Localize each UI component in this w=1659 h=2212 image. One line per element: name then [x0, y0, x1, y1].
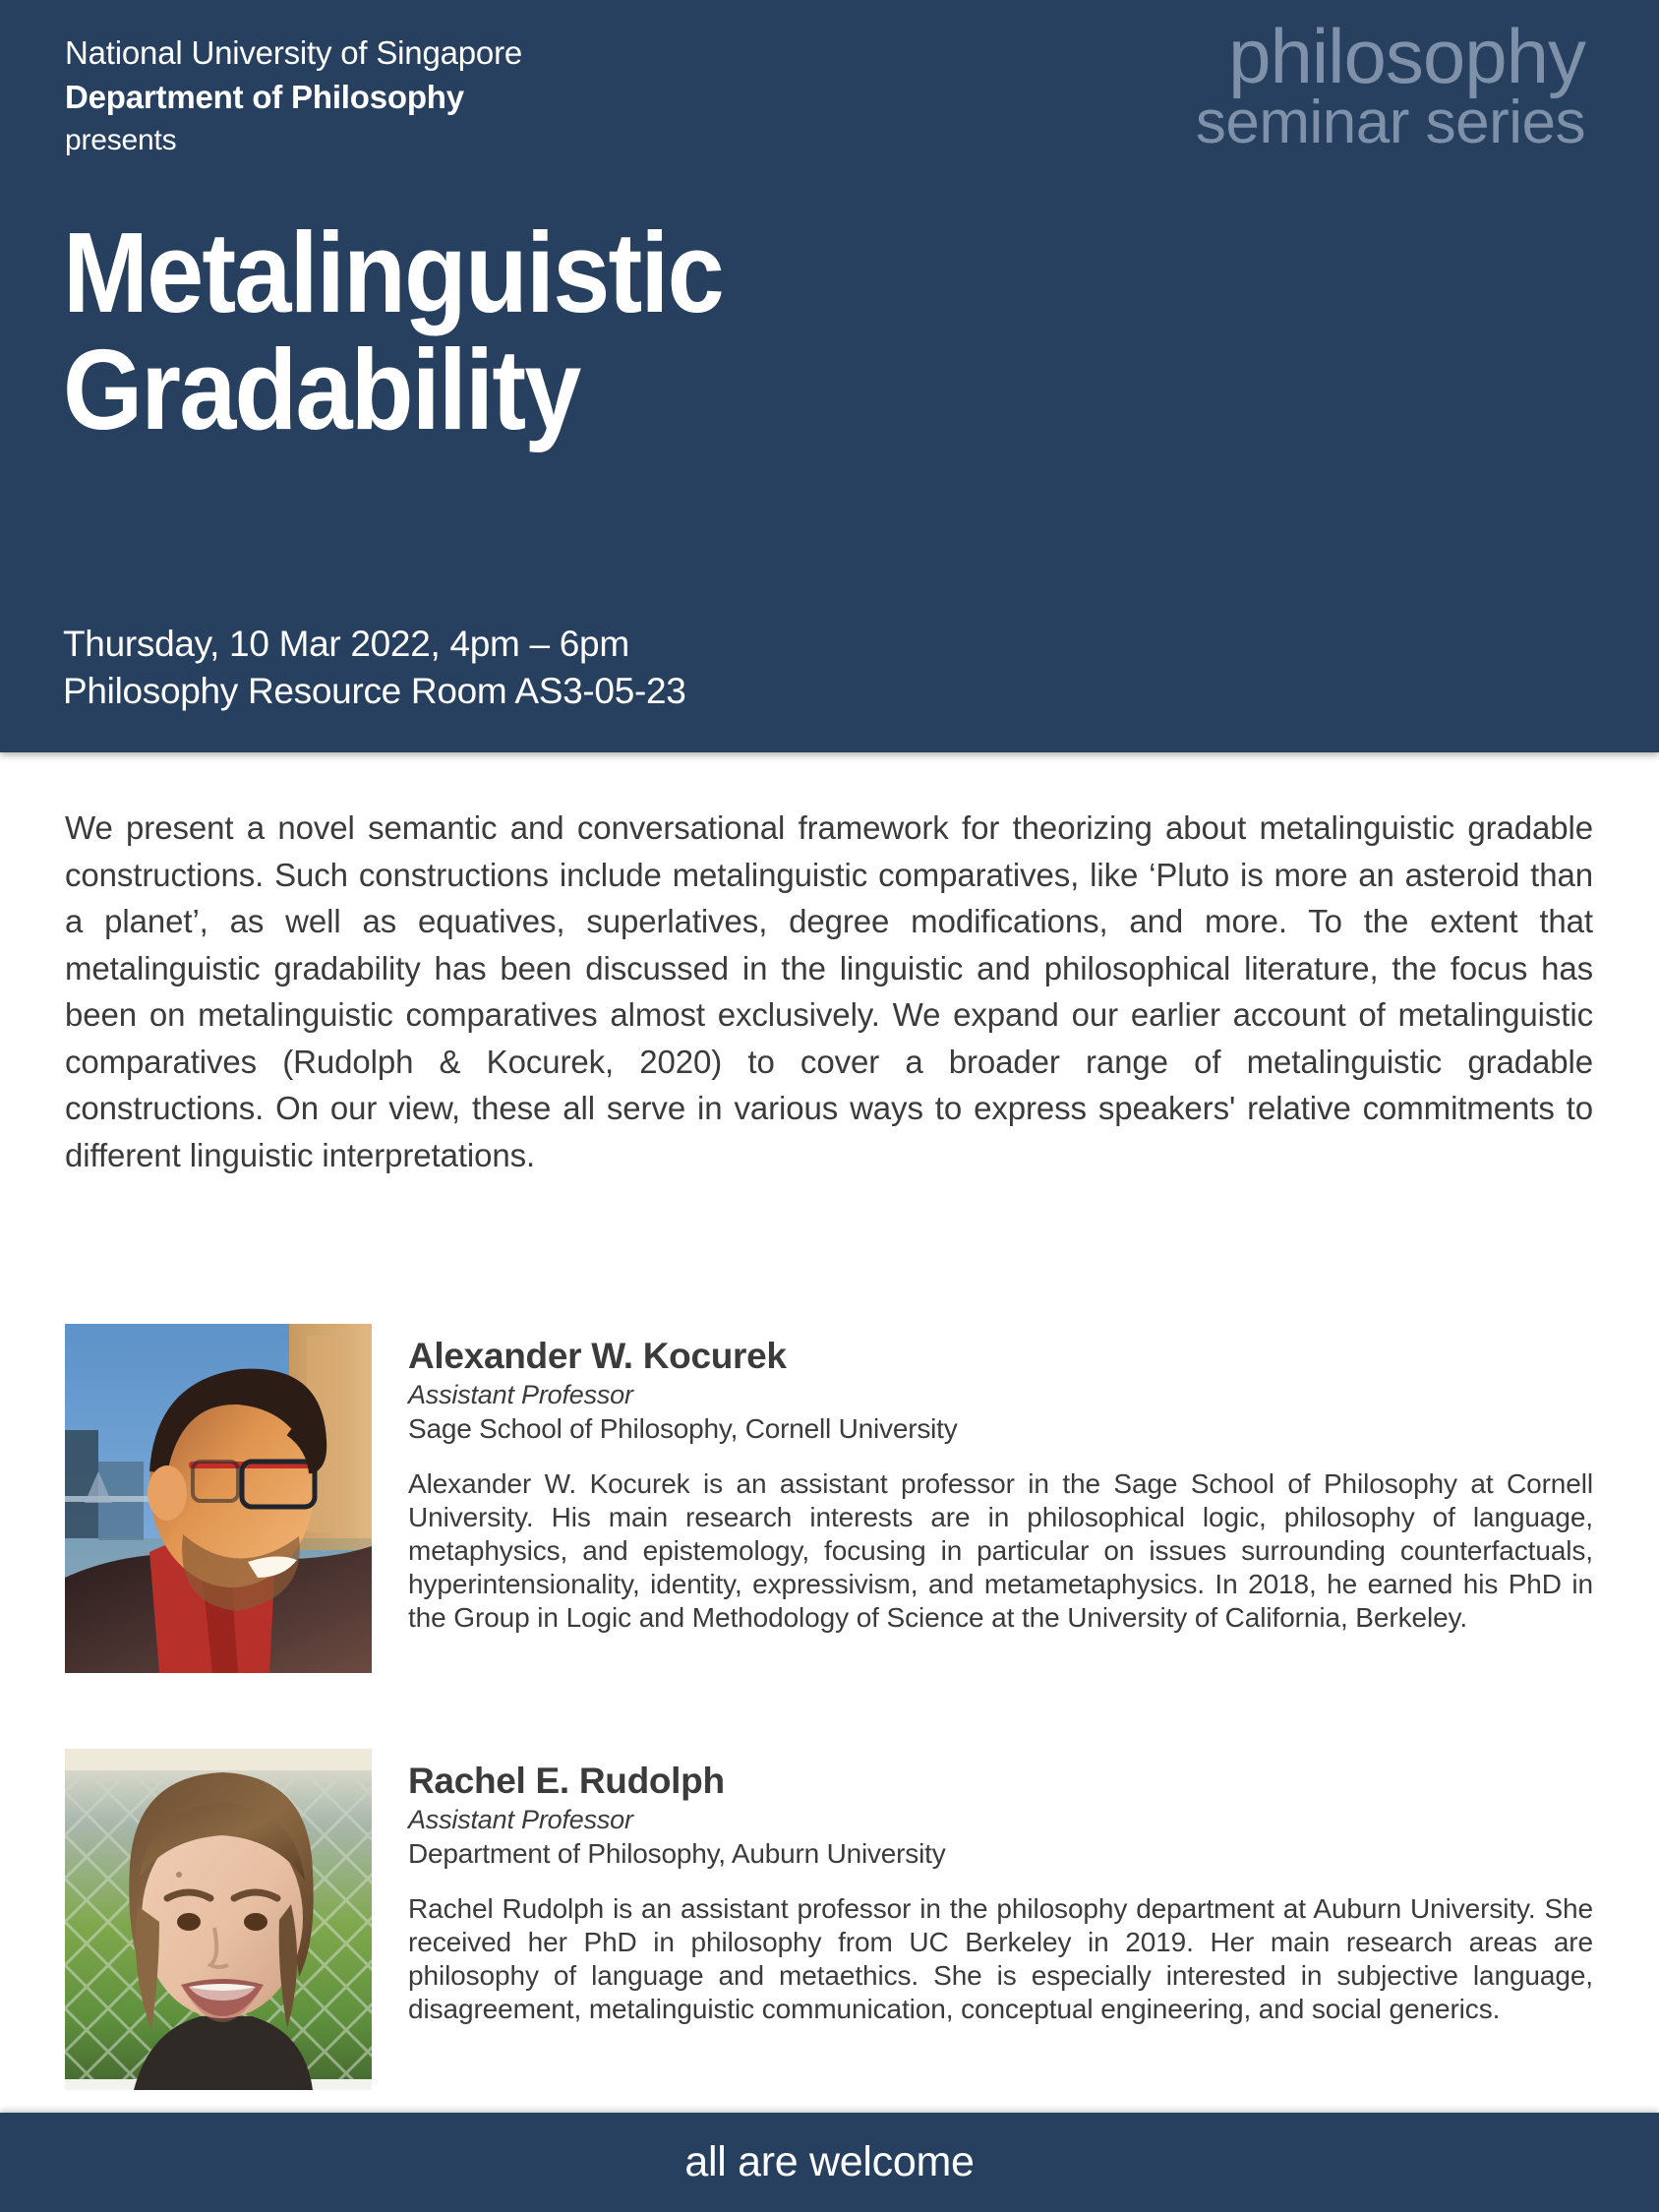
series-word-philosophy: philosophy — [1196, 22, 1585, 92]
speaker-affiliation: Department of Philosophy, Auburn Univers… — [408, 1836, 1593, 1872]
speaker-text-block: Rachel E. Rudolph Assistant Professor De… — [408, 1760, 1593, 2026]
presents-label: presents — [65, 119, 950, 162]
speaker-name: Alexander W. Kocurek — [408, 1335, 1593, 1378]
portrait-photo-alexander-kocurek — [65, 1324, 372, 1673]
series-branding: philosophy seminar series — [1196, 22, 1585, 150]
series-word-seminar-series: seminar series — [1196, 94, 1585, 150]
all-are-welcome-label: all are welcome — [0, 2113, 1659, 2212]
speaker-bio: Alexander W. Kocurek is an assistant pro… — [408, 1467, 1593, 1635]
abstract-paragraph: We present a novel semantic and conversa… — [65, 805, 1593, 1178]
speaker-bio: Rachel Rudolph is an assistant professor… — [408, 1892, 1593, 2026]
footer-band: all are welcome — [0, 2113, 1659, 2212]
speaker-role: Assistant Professor — [408, 1803, 1593, 1836]
page-title: Metalinguistic Gradability — [63, 214, 1037, 449]
seminar-poster: National University of Singapore Departm… — [0, 0, 1659, 2212]
event-details: Thursday, 10 Mar 2022, 4pm – 6pm Philoso… — [63, 621, 686, 715]
header-band: National University of Singapore Departm… — [0, 0, 1659, 752]
speaker-name: Rachel E. Rudolph — [408, 1760, 1593, 1803]
speaker-text-block: Alexander W. Kocurek Assistant Professor… — [408, 1335, 1593, 1635]
event-venue: Philosophy Resource Room AS3-05-23 — [63, 668, 686, 715]
speaker-entry: Alexander W. Kocurek Assistant Professor… — [65, 1321, 1593, 1635]
event-datetime: Thursday, 10 Mar 2022, 4pm – 6pm — [63, 621, 686, 668]
organisation-block: National University of Singapore Departm… — [65, 31, 950, 162]
speaker-role: Assistant Professor — [408, 1378, 1593, 1411]
portrait-photo-rachel-rudolph — [65, 1749, 372, 2090]
speaker-affiliation: Sage School of Philosophy, Cornell Unive… — [408, 1411, 1593, 1447]
university-name: National University of Singapore — [65, 31, 950, 75]
speaker-entry: Rachel E. Rudolph Assistant Professor De… — [65, 1746, 1593, 2026]
department-name: Department of Philosophy — [65, 75, 950, 119]
